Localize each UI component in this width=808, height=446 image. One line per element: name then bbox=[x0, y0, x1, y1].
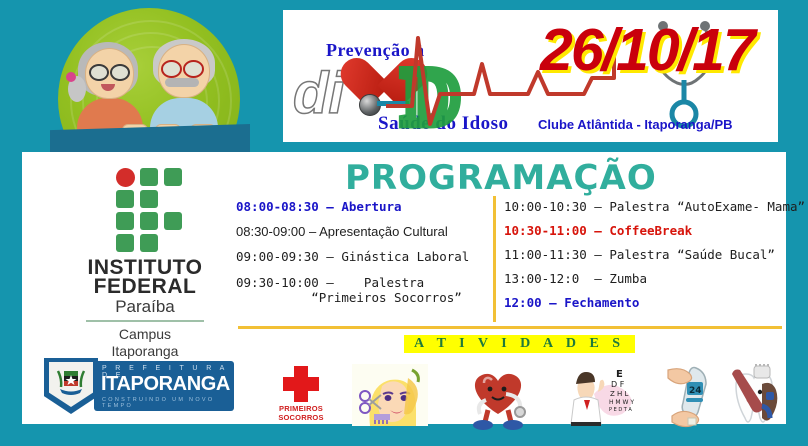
ifpb-line4: Campus bbox=[70, 326, 220, 343]
schedule-right-item: 10:30-11:00 – CoffeeBreak bbox=[504, 224, 794, 238]
programme-schedule: 08:00-08:30 – Abertura08:30-09:00 – Apre… bbox=[236, 200, 784, 328]
elderly-couple-illustration bbox=[22, 6, 272, 152]
woman-hair-tie bbox=[66, 72, 76, 82]
heart-doctor-icon bbox=[462, 364, 534, 430]
schedule-column-left: 08:00-08:30 – Abertura08:30-09:00 – Apre… bbox=[236, 200, 488, 316]
glucose-test-icon: 24 bbox=[660, 364, 726, 428]
first-aid-caption: PRIMEIROS SOCORROS bbox=[270, 404, 332, 422]
svg-text:24: 24 bbox=[689, 386, 702, 396]
man-moustache bbox=[165, 78, 199, 87]
coat-of-arms-icon bbox=[55, 367, 87, 397]
woman-glasses-left bbox=[89, 64, 109, 81]
prefeitura-line2: ITAPORANGA bbox=[101, 373, 230, 396]
schedule-column-right: 10:00-10:30 – Palestra “AutoExame- Mama”… bbox=[504, 200, 794, 320]
activities-heading: A T I V I D A D E S bbox=[404, 335, 635, 353]
schedule-left-item: 09:30-10:00 – Palestra “Primeiros Socorr… bbox=[236, 275, 488, 305]
man-glasses-right bbox=[183, 60, 204, 78]
event-poster: Prevenção à Saúde do Idoso di D D 26/10/… bbox=[0, 0, 808, 446]
ifpb-mark-icon bbox=[102, 168, 188, 252]
schedule-left-item: 09:00-09:30 – Ginástica Laboral bbox=[236, 250, 488, 264]
dental-tooth-icon bbox=[718, 364, 784, 428]
beauty-hairdresser-icon bbox=[352, 364, 428, 426]
event-venue: Clube Atlântida - Itaporanga/PB bbox=[538, 117, 766, 132]
schedule-left-item: 08:00-08:30 – Abertura bbox=[236, 200, 488, 214]
schedule-vertical-divider bbox=[493, 196, 496, 322]
frame-left bbox=[0, 0, 22, 446]
man-glasses-left bbox=[161, 60, 182, 78]
prefeitura-logo: P R E F E I T U R A D E ITAPORANGA CONST… bbox=[44, 358, 234, 414]
page-title: PROGRAMAÇÃO bbox=[345, 158, 657, 198]
ifpb-line2: FEDERAL bbox=[70, 277, 220, 296]
prefeitura-line3: CONSTRUINDO UM NOVO TEMPO bbox=[102, 397, 234, 409]
schedule-left-item: 08:30-09:00 – Apresentação Cultural bbox=[236, 225, 488, 239]
ifpb-divider bbox=[86, 320, 204, 322]
schedule-bottom-divider bbox=[238, 326, 782, 329]
event-date: 26/10/17 bbox=[540, 16, 768, 84]
svg-text:H M W Y: H M W Y bbox=[609, 399, 634, 406]
svg-text:Z H L: Z H L bbox=[610, 390, 629, 398]
prefeitura-shield bbox=[44, 358, 98, 414]
schedule-right-item: 11:00-11:30 – Palestra “Saúde Bucal” bbox=[504, 248, 794, 262]
ifpb-line3: Paraíba bbox=[70, 296, 220, 317]
svg-text:P E D T A: P E D T A bbox=[609, 407, 632, 413]
svg-text:D F: D F bbox=[611, 380, 625, 389]
first-aid-icon: PRIMEIROS SOCORROS bbox=[276, 364, 338, 424]
woman-glasses-right bbox=[110, 64, 130, 81]
schedule-right-item: 13:00-12:0 – Zumba bbox=[504, 272, 794, 286]
svg-text:E: E bbox=[616, 369, 623, 380]
schedule-right-item: 10:00-10:30 – Palestra “AutoExame- Mama” bbox=[504, 200, 794, 214]
campaign-wordmark: di bbox=[293, 60, 345, 127]
event-date-block: 26/10/17 Clube Atlântida - Itaporanga/PB bbox=[536, 14, 764, 138]
schedule-right-item: 12:00 – Fechamento bbox=[504, 296, 794, 310]
eye-chart-icon: E D F Z H L H M W Y P E D T A bbox=[570, 364, 650, 426]
prefeitura-wordmark: P R E F E I T U R A D E ITAPORANGA CONST… bbox=[94, 361, 234, 411]
ifpb-logo: INSTITUTO FEDERAL Paraíba Campus Itapora… bbox=[70, 168, 220, 360]
